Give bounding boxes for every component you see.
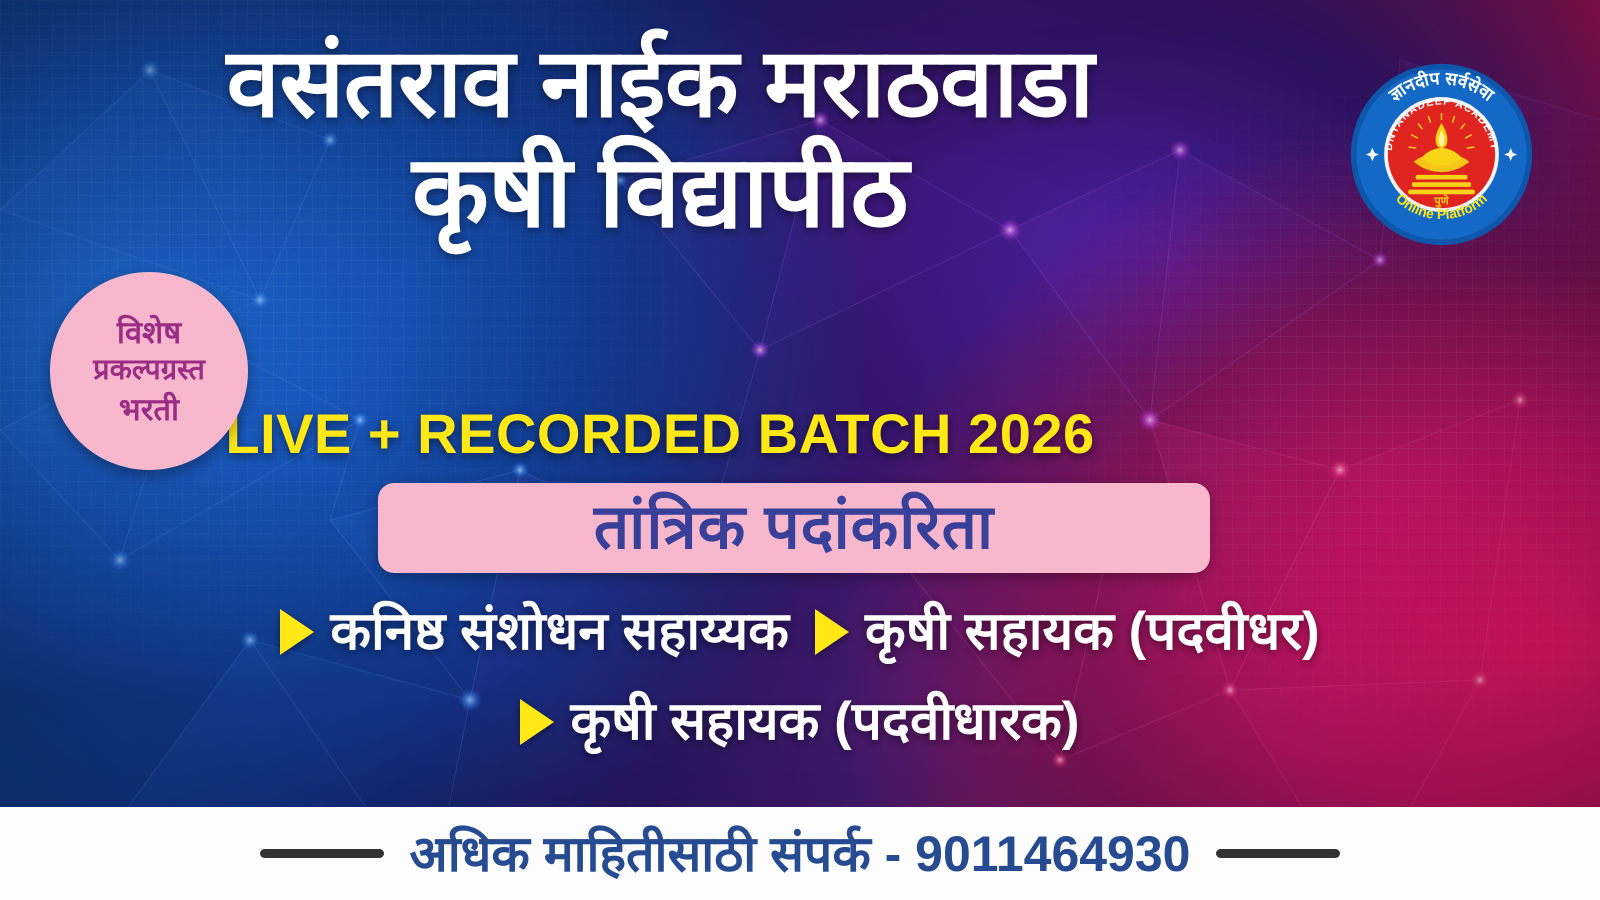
headline-line-1: वसंतराव नाईक मराठवाडा bbox=[0, 34, 1320, 134]
special-badge-line-1: विशेष bbox=[117, 313, 181, 353]
post-list-row-2: कृषी सहायक (पदवीधारक) bbox=[0, 694, 1600, 750]
post-item: कृषी सहायक (पदवीधर) bbox=[815, 604, 1320, 660]
special-recruitment-badge: विशेष प्रकल्पग्रस्त भरती bbox=[50, 272, 248, 470]
contact-text: अधिक माहितीसाठी संपर्क - 9011464930 bbox=[410, 829, 1191, 879]
logo-city-text: पुणे bbox=[1433, 193, 1449, 208]
headline-block: वसंतराव नाईक मराठवाडा कृषी विद्यापीठ bbox=[0, 34, 1320, 244]
special-badge-line-2: प्रकल्पग्रस्त bbox=[93, 352, 205, 389]
contact-bar: अधिक माहितीसाठी संपर्क - 9011464930 bbox=[0, 807, 1600, 900]
post-label: कनिष्ठ संशोधन सहाय्यक bbox=[330, 604, 789, 660]
post-list-row-1: कनिष्ठ संशोधन सहाय्यक कृषी सहायक (पदवीधर… bbox=[0, 604, 1600, 660]
technical-posts-banner-label: तांत्रिक पदांकरिता bbox=[594, 497, 994, 559]
recruitment-poster: वसंतराव नाईक मराठवाडा कृषी विद्यापीठ LIV… bbox=[0, 0, 1600, 900]
arrow-bullet-icon bbox=[520, 699, 554, 745]
headline-line-2: कृषी विद्यापीठ bbox=[0, 140, 1320, 244]
post-label: कृषी सहायक (पदवीधारक) bbox=[570, 694, 1079, 750]
contact-rule-right bbox=[1216, 849, 1340, 858]
arrow-bullet-icon bbox=[280, 609, 314, 655]
special-badge-line-3: भरती bbox=[119, 390, 179, 430]
arrow-bullet-icon bbox=[815, 609, 849, 655]
contact-rule-left bbox=[260, 849, 384, 858]
post-label: कृषी सहायक (पदवीधर) bbox=[865, 604, 1320, 660]
academy-logo: ज्ञानदीप सर्वसेवा Online Platform DNYANA… bbox=[1349, 62, 1534, 247]
post-item: कृषी सहायक (पदवीधारक) bbox=[520, 694, 1079, 750]
technical-posts-banner: तांत्रिक पदांकरिता bbox=[378, 483, 1210, 573]
post-item: कनिष्ठ संशोधन सहाय्यक bbox=[280, 604, 789, 660]
academy-logo-icon: ज्ञानदीप सर्वसेवा Online Platform DNYANA… bbox=[1349, 62, 1534, 247]
